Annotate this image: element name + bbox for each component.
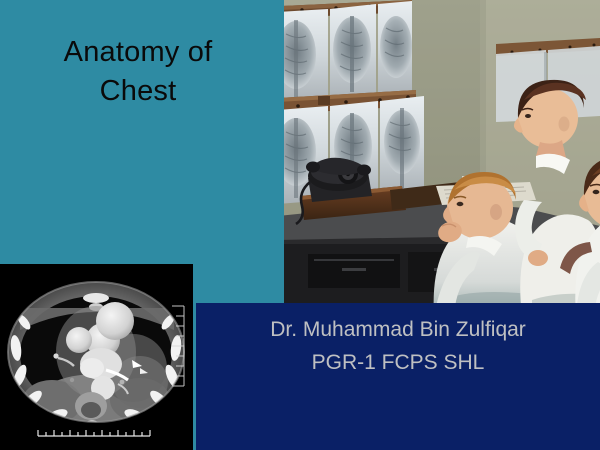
presenter-credentials: PGR-1 FCPS SHL	[196, 346, 600, 379]
axial-chest-ct-scan	[0, 264, 193, 450]
ct-scan-artwork	[0, 264, 193, 450]
page-title: Anatomy of Chest	[14, 33, 262, 111]
presenter-panel: Dr. Muhammad Bin Zulfiqar PGR-1 FCPS SHL	[196, 303, 600, 450]
presenter-name: Dr. Muhammad Bin Zulfiqar	[196, 313, 600, 346]
presenter-credits: Dr. Muhammad Bin Zulfiqar PGR-1 FCPS SHL	[196, 313, 600, 379]
presentation-slide: Anatomy of Chest	[0, 0, 600, 450]
chest-xray-viewing-photograph	[284, 0, 600, 316]
title-line-1: Anatomy of	[14, 33, 262, 72]
photograph-artwork	[284, 0, 600, 316]
title-line-2: Chest	[14, 72, 262, 111]
